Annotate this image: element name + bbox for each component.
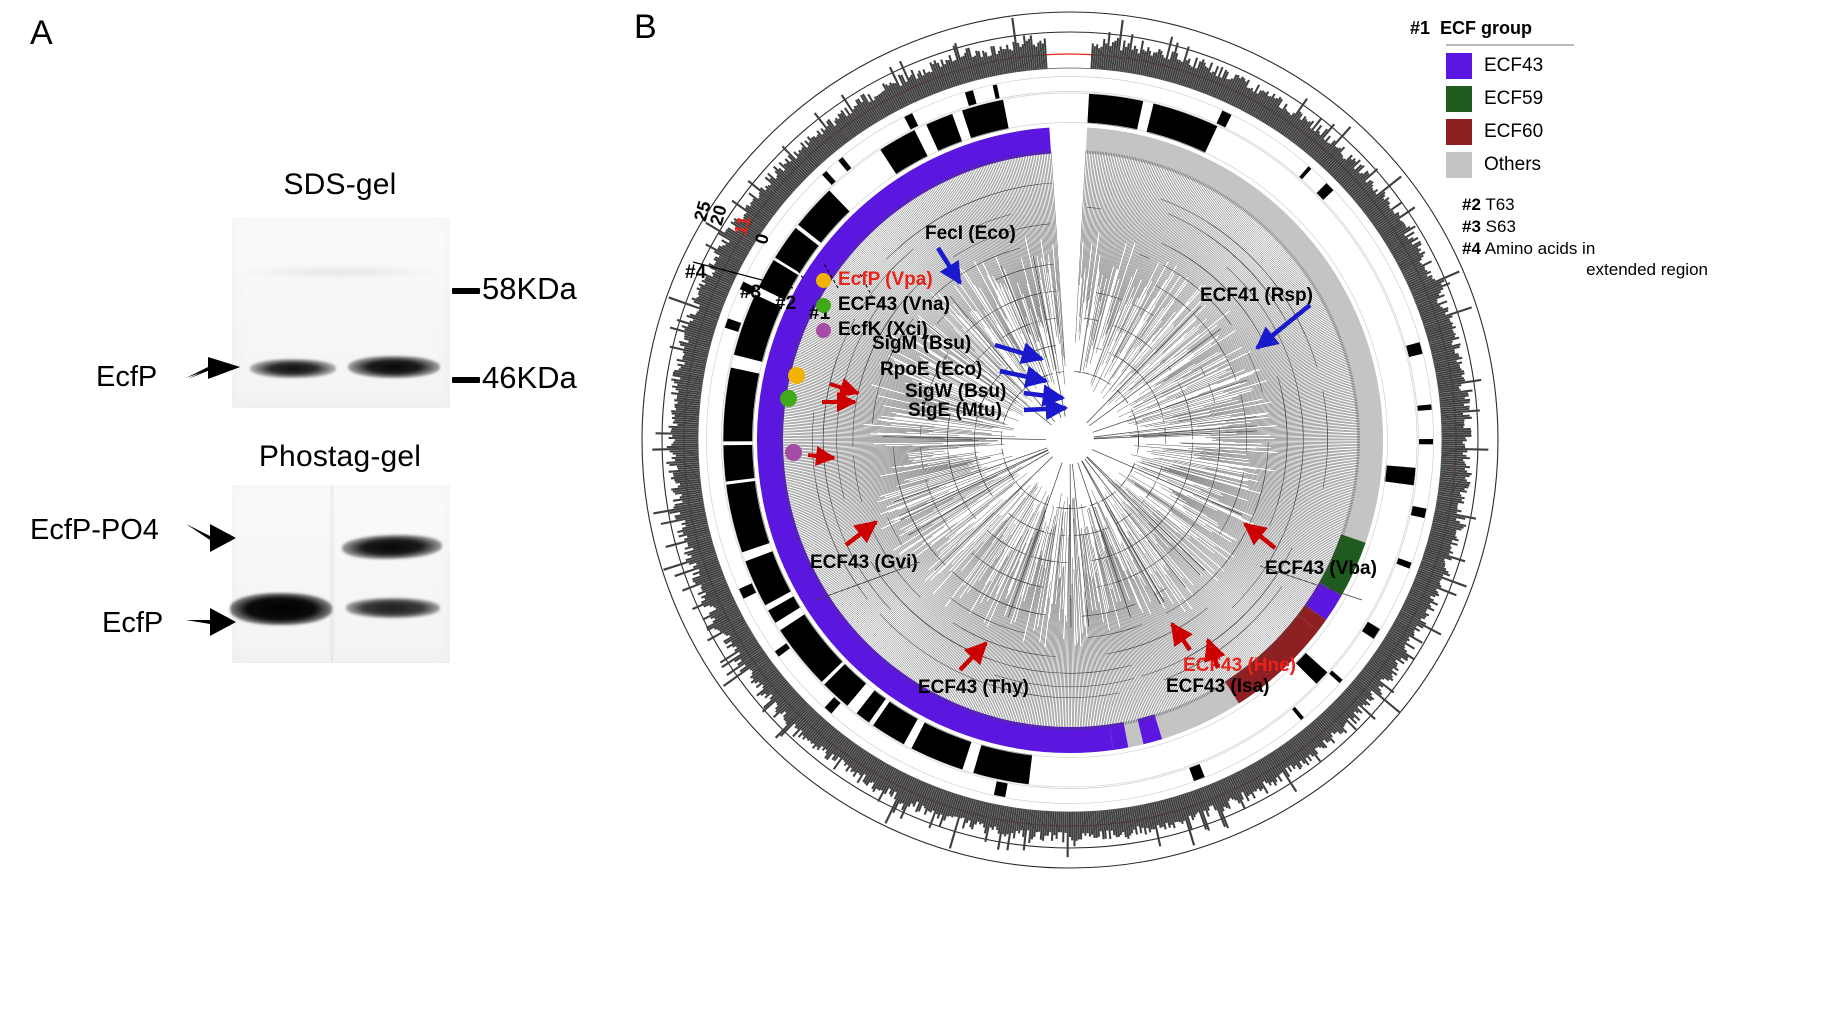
phostag-gel-lane-divider	[328, 485, 336, 663]
phostag-gel-band-ecfp-po4	[342, 534, 443, 561]
legend-item-ecf60[interactable]: ECF60	[1446, 119, 1710, 145]
legend-swatch-others	[1446, 152, 1472, 178]
dot-legend: EcfP (Vpa) ECF43 (Vna) EcfK (Xci)	[816, 269, 950, 341]
sds-gel-title: SDS-gel	[160, 168, 520, 202]
sds-gel-label-ecfp: EcfP	[96, 363, 157, 392]
marker-tick-46	[452, 377, 480, 383]
sds-gel-arrow-ecfp	[186, 345, 242, 393]
tree-label-ecf41-rsp: ECF41 (Rsp)	[1200, 285, 1313, 307]
tree-label-ecf43-hne: ECF43 (Hne)	[1183, 655, 1296, 677]
ring-1-ecf-group	[770, 140, 1370, 740]
panel-a: A SDS-gel 58KDa 46KDa EcfP Phostag-gel E…	[0, 0, 620, 1026]
tree-label-ecf43-thy: ECF43 (Thy)	[918, 677, 1029, 699]
legend-note-4-text: Amino acids in	[1485, 239, 1596, 258]
legend-note-2: #2 T63	[1462, 194, 1710, 216]
ring-2-t63	[723, 93, 1417, 787]
marker-label-58: 58KDa	[482, 273, 577, 304]
phostag-gel-label-ecfp-po4: EcfP-PO4	[30, 516, 159, 545]
phostag-gel-band-ecfp-lane2	[346, 598, 440, 618]
dot-purple-icon	[816, 323, 831, 338]
tree-dot-ecf43-vna-icon	[780, 390, 797, 407]
sds-gel-band-lane1	[250, 359, 336, 378]
ring-label-3: #3	[740, 282, 761, 304]
dot-legend-item-ecfp-vpa: EcfP (Vpa)	[816, 269, 950, 291]
marker-tick-58	[452, 288, 480, 294]
sds-gel-smear	[238, 264, 444, 280]
tree-dot-ecfp-vpa-icon	[788, 367, 805, 384]
legend-item-ecf59[interactable]: ECF59	[1446, 86, 1710, 112]
tree-label-rpoe-eco: RpoE (Eco)	[880, 359, 982, 381]
legend: #1 ECF group ECF43 ECF59 ECF60 Others	[1410, 18, 1710, 281]
dot-legend-label-ecf43-vna: ECF43 (Vna)	[838, 294, 950, 316]
dot-legend-item-ecf43-vna: ECF43 (Vna)	[816, 294, 950, 316]
sds-gel-band-lane2	[348, 356, 440, 378]
legend-label-ecf43: ECF43	[1484, 55, 1543, 77]
dot-yellow-icon	[816, 273, 831, 288]
phostag-gel-band-ecfp-lane1	[230, 593, 332, 625]
ring-label-2: #2	[775, 293, 796, 315]
legend-header: #1 ECF group	[1410, 18, 1710, 39]
legend-title: ECF group	[1440, 18, 1532, 39]
tree-label-sige-mtu: SigE (Mtu)	[908, 400, 1002, 422]
phostag-gel-arrow-ecfp-po4	[186, 512, 238, 556]
marker-label-46: 46KDa	[482, 362, 577, 393]
legend-swatch-ecf60	[1446, 119, 1472, 145]
tree-label-sigm-bsu: SigM (Bsu)	[872, 333, 971, 355]
tree-label-feci-eco: FecI (Eco)	[925, 223, 1016, 245]
phostag-gel-arrow-ecfp	[186, 600, 238, 644]
legend-note-3: #3 S63	[1462, 216, 1710, 238]
tree-label-ecf43-gvi: ECF43 (Gvi)	[810, 552, 918, 574]
legend-label-ecf59: ECF59	[1484, 88, 1543, 110]
legend-swatch-ecf59	[1446, 86, 1472, 112]
legend-note-2-tag: #2	[1462, 195, 1481, 214]
tree-label-ecf43-isa: ECF43 (Isa)	[1166, 676, 1269, 698]
phostag-gel-label-ecfp: EcfP	[102, 609, 163, 638]
legend-note-3-text: S63	[1486, 217, 1516, 236]
dot-green-icon	[816, 298, 831, 313]
legend-swatch-ecf43	[1446, 53, 1472, 79]
legend-note-2-text: T63	[1485, 195, 1514, 214]
panel-b: B	[620, 0, 1846, 1026]
legend-note-4-tag: #4	[1462, 239, 1481, 258]
legend-note-3-tag: #3	[1462, 217, 1481, 236]
axis-circle-20	[662, 32, 1478, 848]
legend-item-others[interactable]: Others	[1446, 152, 1710, 178]
tree-label-ecf43-vba: ECF43 (Vba)	[1265, 558, 1377, 580]
legend-note-4-cont: extended region	[1462, 259, 1710, 281]
legend-label-others: Others	[1484, 154, 1541, 176]
panel-a-letter: A	[30, 14, 53, 53]
tree-dot-ecfk-xci-icon	[785, 444, 802, 461]
phostag-gel-image	[232, 485, 450, 663]
legend-note-4: #4 Amino acids in	[1462, 238, 1710, 260]
legend-ring-tag: #1	[1410, 18, 1430, 39]
legend-divider	[1446, 44, 1574, 46]
sds-gel-image	[232, 218, 450, 408]
phostag-gel-title: Phostag-gel	[160, 440, 520, 474]
ring-label-4: #4	[685, 262, 706, 284]
legend-item-ecf43[interactable]: ECF43	[1446, 53, 1710, 79]
legend-label-ecf60: ECF60	[1484, 121, 1543, 143]
dot-legend-label-ecfp-vpa: EcfP (Vpa)	[838, 269, 933, 291]
